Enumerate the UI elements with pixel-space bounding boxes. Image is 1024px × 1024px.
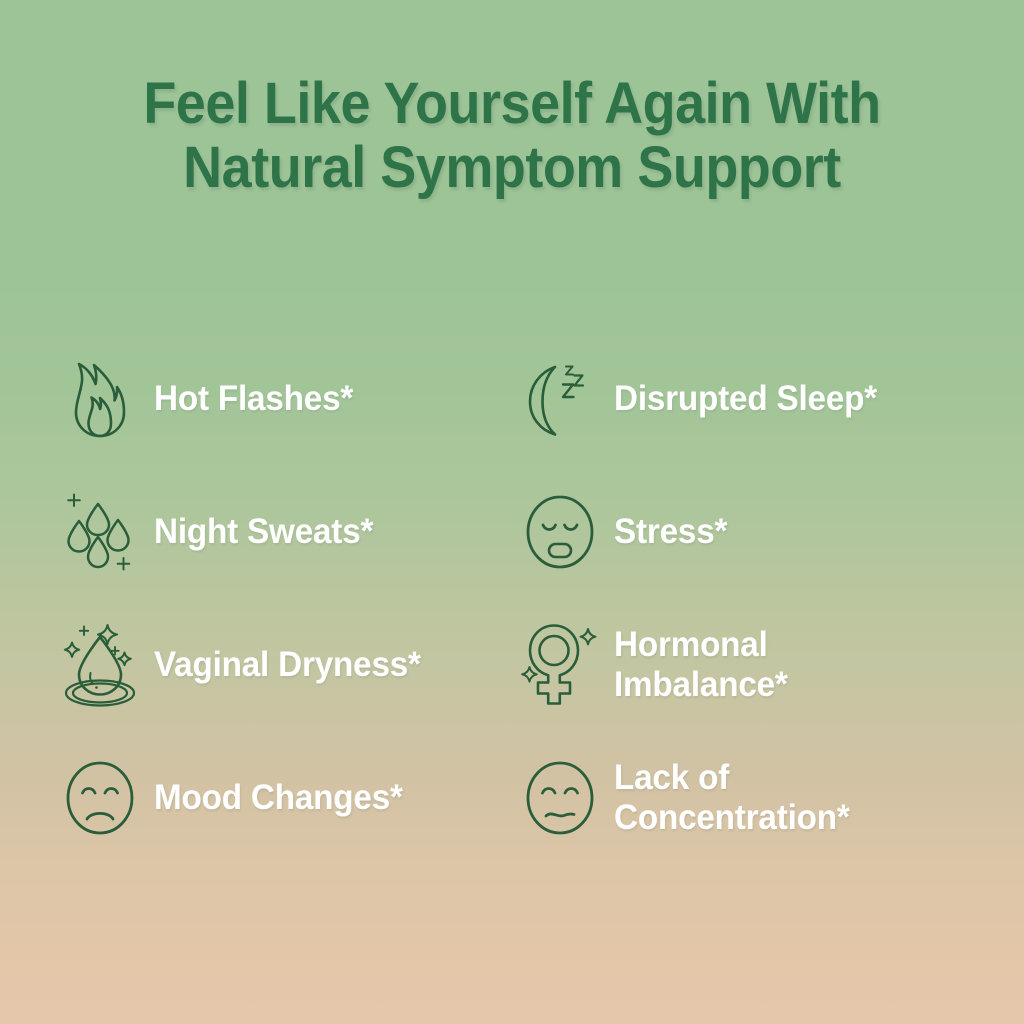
symptom-label: Hormonal Imbalance*	[614, 625, 788, 704]
symptom-label: Stress*	[614, 512, 727, 552]
symptom-item-vaginal-dryness: Vaginal Dryness*	[62, 598, 522, 731]
confused-face-icon	[522, 756, 598, 840]
venus-symbol-icon	[522, 623, 598, 707]
symptom-item-lack-of-concentration: Lack of Concentration*	[522, 731, 982, 864]
stressed-face-icon	[522, 490, 598, 574]
moon-zzz-icon	[522, 357, 598, 441]
symptom-item-hormonal-imbalance: Hormonal Imbalance*	[522, 598, 982, 731]
symptom-item-night-sweats: Night Sweats*	[62, 465, 522, 598]
headline-line-1: Feel Like Yourself Again With	[36, 72, 988, 136]
symptom-label: Hot Flashes*	[154, 379, 353, 419]
sad-face-icon	[62, 756, 138, 840]
symptom-label: Lack of Concentration*	[614, 758, 850, 837]
page-title: Feel Like Yourself Again With Natural Sy…	[36, 72, 988, 200]
symptom-label: Vaginal Dryness*	[154, 645, 421, 685]
symptom-label: Disrupted Sleep*	[614, 379, 877, 419]
symptom-list: Hot Flashes* Disrupted Sleep*	[62, 332, 982, 864]
symptom-item-disrupted-sleep: Disrupted Sleep*	[522, 332, 982, 465]
flame-icon	[62, 357, 138, 441]
symptom-label: Mood Changes*	[154, 778, 403, 818]
headline-line-2: Natural Symptom Support	[36, 136, 988, 200]
symptom-item-mood-changes: Mood Changes*	[62, 731, 522, 864]
symptom-label: Night Sweats*	[154, 512, 373, 552]
symptom-item-stress: Stress*	[522, 465, 982, 598]
water-drop-ripple-icon	[62, 623, 138, 707]
symptom-support-poster: Feel Like Yourself Again With Natural Sy…	[0, 0, 1024, 1024]
sweat-droplets-icon	[62, 490, 138, 574]
symptom-item-hot-flashes: Hot Flashes*	[62, 332, 522, 465]
